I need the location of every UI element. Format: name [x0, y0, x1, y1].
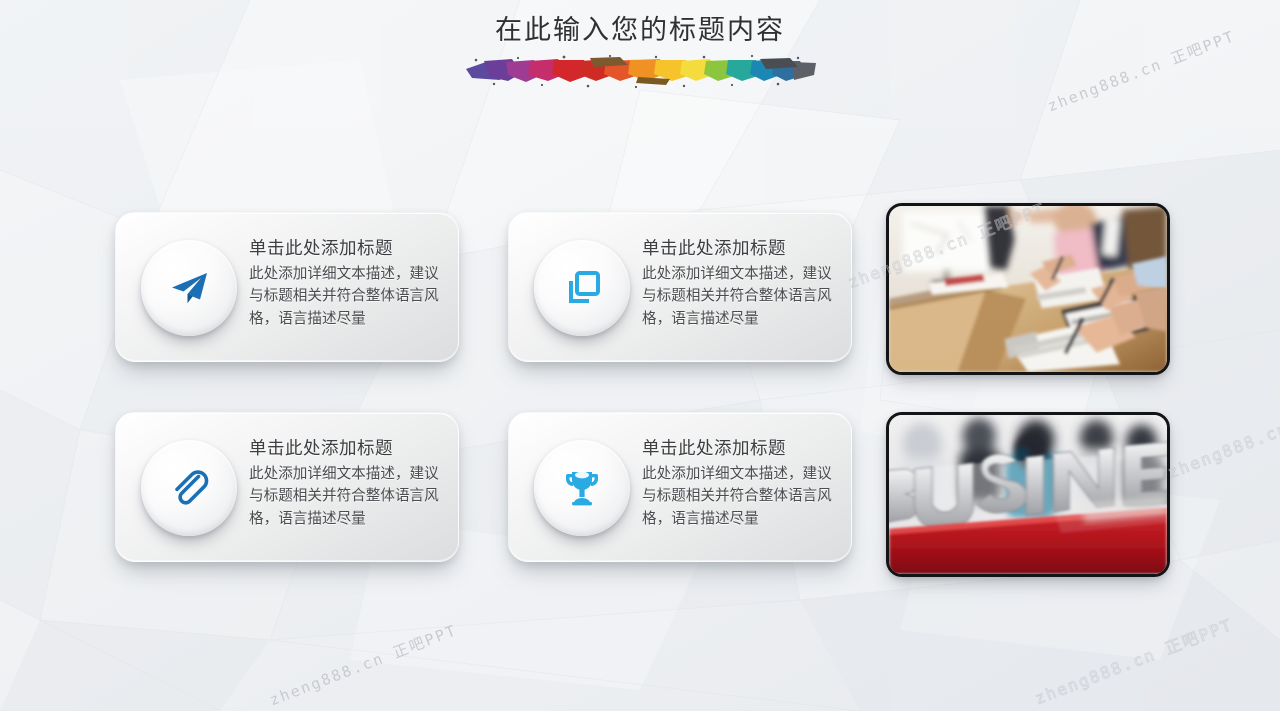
feature-card-2[interactable]: 单击此处添加标题 此处添加详细文本描述，建议与标题相关并符合整体语言风格，语言描… [508, 212, 852, 362]
icon-knob-2 [534, 240, 630, 336]
card-body-2: 此处添加详细文本描述，建议与标题相关并符合整体语言风格，语言描述尽量 [642, 263, 842, 331]
card-body-4: 此处添加详细文本描述，建议与标题相关并符合整体语言风格，语言描述尽量 [642, 463, 842, 531]
card-text-2: 单击此处添加标题 此处添加详细文本描述，建议与标题相关并符合整体语言风格，语言描… [642, 239, 837, 331]
card-title-1: 单击此处添加标题 [249, 239, 444, 261]
page-title: 在此输入您的标题内容 [0, 8, 1280, 47]
copy-layers-icon [562, 268, 602, 308]
icon-knob-3 [141, 440, 237, 536]
slide-canvas: 在此输入您的标题内容 [0, 0, 1280, 711]
card-text-3: 单击此处添加标题 此处添加详细文本描述，建议与标题相关并符合整体语言风格，语言描… [249, 439, 444, 531]
title-block: 在此输入您的标题内容 [0, 8, 1280, 89]
feature-card-1[interactable]: 单击此处添加标题 此处添加详细文本描述，建议与标题相关并符合整体语言风格，语言描… [115, 212, 459, 362]
card-text-4: 单击此处添加标题 此处添加详细文本描述，建议与标题相关并符合整体语言风格，语言描… [642, 439, 837, 531]
meeting-photo[interactable] [886, 203, 1170, 375]
trophy-icon [561, 467, 603, 509]
icon-knob-1 [141, 240, 237, 336]
paper-plane-icon [167, 266, 211, 310]
card-text-1: 单击此处添加标题 此处添加详细文本描述，建议与标题相关并符合整体语言风格，语言描… [249, 239, 444, 331]
card-body-1: 此处添加详细文本描述，建议与标题相关并符合整体语言风格，语言描述尽量 [249, 263, 449, 331]
card-title-3: 单击此处添加标题 [249, 439, 444, 461]
icon-knob-4 [534, 440, 630, 536]
feature-card-4[interactable]: 单击此处添加标题 此处添加详细文本描述，建议与标题相关并符合整体语言风格，语言描… [508, 412, 852, 562]
paint-splash-decoration [460, 53, 820, 89]
card-body-3: 此处添加详细文本描述，建议与标题相关并符合整体语言风格，语言描述尽量 [249, 463, 449, 531]
business-photo[interactable] [886, 412, 1170, 577]
card-title-4: 单击此处添加标题 [642, 439, 837, 461]
paperclip-icon [167, 466, 211, 510]
card-title-2: 单击此处添加标题 [642, 239, 837, 261]
feature-card-3[interactable]: 单击此处添加标题 此处添加详细文本描述，建议与标题相关并符合整体语言风格，语言描… [115, 412, 459, 562]
